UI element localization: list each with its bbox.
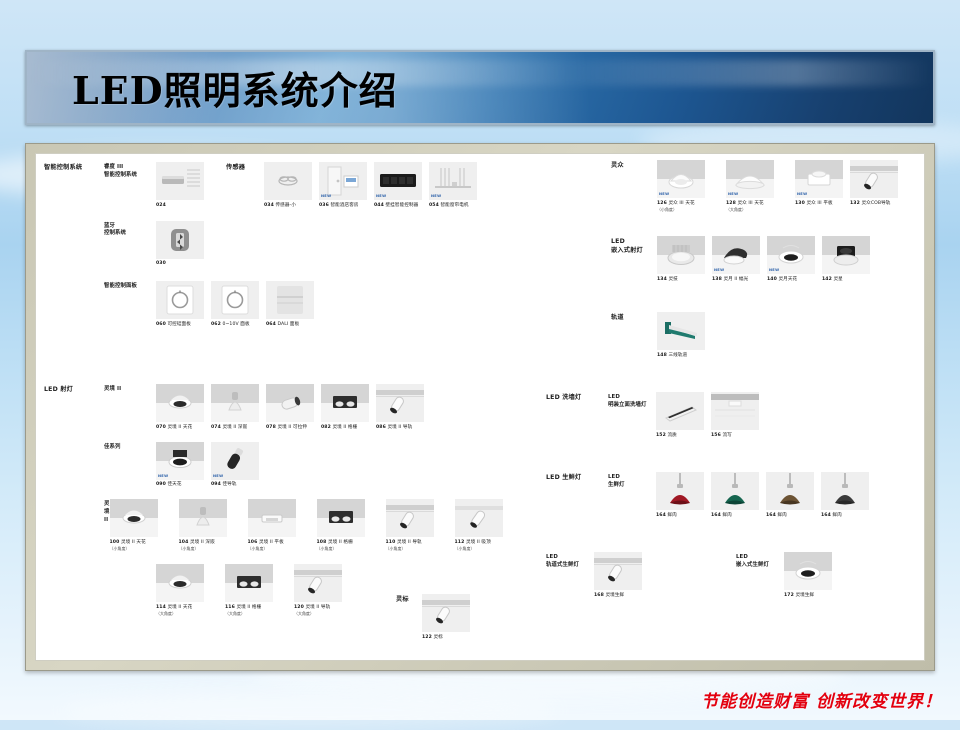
product-caption: 156 流写 xyxy=(711,433,759,439)
product-code: 064 xyxy=(266,322,276,327)
product-caption: 140 灵月天花 xyxy=(767,277,815,283)
product-thumbnail-surface-spot-icon xyxy=(455,499,503,537)
product-thumbnail-track-spot-icon xyxy=(850,160,898,198)
catalog-item[interactable]: 114 灵境 II 天花（大角度） xyxy=(156,564,218,618)
product-thumbnail-linear-washer-icon xyxy=(656,392,704,430)
product-caption: 062 0~10V 面板 xyxy=(211,322,259,328)
product-caption: 078 灵境 II 可拉伸 xyxy=(266,425,314,431)
product-thumbnail-downlight-dark-icon: NEW xyxy=(156,442,204,480)
catalog-item[interactable]: 070 灵境 II 天花 xyxy=(156,384,204,431)
catalog-item-row: 122 灵标 xyxy=(422,594,477,641)
section-led-recessed-spotlight: LED 嵌入式射灯 134 灵技NEW138 灵月 II 幅光NEW140 灵月… xyxy=(611,236,877,283)
catalog-item-row: 100 灵境 II 天花（小角度）104 灵境 II 深嵌（小角度）106 灵境… xyxy=(110,499,524,553)
catalog-section-row: LED 生鲜灯LED 生鲜灯 164 鲜肉 164 鲜肉 164 鲜肉 164 … xyxy=(546,472,876,519)
product-thumbnail-curtain-motor-icon: NEW xyxy=(429,162,477,200)
product-caption: 104 灵境 II 深嵌（小角度） xyxy=(179,540,241,553)
catalog-item[interactable]: 106 灵境 II 平板（小角度） xyxy=(248,499,310,553)
product-name: 灵境 II 深嵌 xyxy=(222,425,247,430)
product-name: 灵境 II 导轨 xyxy=(387,425,412,430)
product-name: 鲜肉 xyxy=(722,513,731,518)
catalog-section-row: LED 轨道式生鲜灯 168 灵境生鲜 xyxy=(546,552,649,599)
catalog-item[interactable]: 164 鲜肉 xyxy=(711,472,759,519)
new-badge: NEW xyxy=(769,268,779,272)
product-code: 024 xyxy=(156,203,166,208)
product-thumbnail-controller-box-icon xyxy=(156,162,204,200)
product-code: 164 xyxy=(766,513,776,518)
product-code: 134 xyxy=(657,277,667,282)
catalog-group: 佳系列NEW090 佳天花NEW094 佳导轨 xyxy=(104,442,508,489)
section-title: 智能控制系统 xyxy=(44,164,82,173)
product-caption: 120 灵境 II 导轨（大角度） xyxy=(294,605,356,618)
product-name: 灵境 II 格栅 xyxy=(332,425,357,430)
product-variant: （小角度） xyxy=(657,207,677,212)
section-led-spotlight: LED 射灯灵境 II070 灵境 II 天花074 灵境 II 深嵌078 灵… xyxy=(38,384,508,629)
section-lingbiao: 灵标 122 灵标 xyxy=(396,594,477,641)
catalog-item[interactable]: NEW140 灵月天花 xyxy=(767,236,815,283)
product-code: 152 xyxy=(656,433,666,438)
catalog-item-row: 168 灵境生鲜 xyxy=(594,552,649,599)
product-caption: 108 灵境 II 格栅（小角度） xyxy=(317,540,379,553)
product-variant: （小角度） xyxy=(317,546,337,551)
product-code: 090 xyxy=(156,482,166,487)
product-name: 传感器-小 xyxy=(275,203,296,208)
group-label: LED 轨道式生鲜灯 xyxy=(546,552,594,569)
product-thumbnail-flat-panel-icon xyxy=(266,281,314,319)
catalog-item[interactable]: NEW126 灵众 III 天花（小角度） xyxy=(657,160,719,214)
product-thumbnail-downlight-icon xyxy=(156,564,204,602)
product-variant: （大角度） xyxy=(294,611,314,616)
product-name: 壁挂智能控制器 xyxy=(385,203,418,208)
catalog-item-row: 134 灵技NEW138 灵月 II 幅光NEW140 灵月天花142 灵星 xyxy=(657,236,877,283)
product-caption: 106 灵境 II 平板（小角度） xyxy=(248,540,310,553)
product-thumbnail-pendant-black-icon xyxy=(821,472,869,510)
new-badge: NEW xyxy=(728,192,738,196)
catalog-group: 灵境 II100 灵境 II 天花（小角度）104 灵境 II 深嵌（小角度）1… xyxy=(104,499,508,553)
catalog-item[interactable]: 060 可控硅面板 xyxy=(156,281,204,328)
product-thumbnail-pendant-brown-icon xyxy=(766,472,814,510)
product-variant: （小角度） xyxy=(179,546,199,551)
product-thumbnail-track-spot-dark-icon: NEW xyxy=(211,442,259,480)
product-code: 094 xyxy=(211,482,221,487)
product-caption: 126 灵众 III 天花（小角度） xyxy=(657,201,719,214)
catalog-item[interactable]: 134 灵技 xyxy=(657,236,705,283)
product-thumbnail-track-spot-icon xyxy=(594,552,642,590)
product-code: 082 xyxy=(321,425,331,430)
catalog-item-row: 152 流质156 流写 xyxy=(656,392,766,439)
catalog-item[interactable]: 064 DALI 面板 xyxy=(266,281,314,328)
product-caption: 034 传感器-小 xyxy=(264,203,312,209)
product-name: 灵境 II 导轨 xyxy=(397,540,422,545)
catalog-group: 灵境 II070 灵境 II 天花074 灵境 II 深嵌078 灵境 II 可… xyxy=(104,384,508,431)
product-caption: 036 智能酒店客房 xyxy=(319,203,367,209)
product-code: 138 xyxy=(712,277,722,282)
product-caption: 060 可控硅面板 xyxy=(156,322,204,328)
product-variant: （小角度） xyxy=(455,546,475,551)
section-title: 灵标 xyxy=(396,596,409,605)
group-label: LED 生鲜灯 xyxy=(608,472,656,489)
new-badge: NEW xyxy=(321,194,331,198)
catalog-item-row: 034 传感器-小NEW036 智能酒店客房NEW044 壁挂智能控制器NEW0… xyxy=(264,162,484,209)
product-code: 126 xyxy=(657,201,667,206)
catalog-item[interactable]: 116 灵境 II 格栅（大角度） xyxy=(225,564,287,618)
catalog-item[interactable]: 034 传感器-小 xyxy=(264,162,312,209)
product-code: 148 xyxy=(657,353,667,358)
product-code: 078 xyxy=(266,425,276,430)
product-caption: 024 xyxy=(156,203,204,209)
product-name: 灵境 II 格栅 xyxy=(328,540,353,545)
catalog-group: 智能控制面板060 可控硅面板062 0~10V 面板064 DALI 面板 xyxy=(104,281,484,328)
product-variant: （小角度） xyxy=(248,546,268,551)
product-code: 086 xyxy=(376,425,386,430)
product-thumbnail-downlight-white-icon: NEW xyxy=(657,160,705,198)
product-code: 156 xyxy=(711,433,721,438)
product-name: 灵技 xyxy=(668,277,677,282)
new-badge: NEW xyxy=(797,192,807,196)
product-code: 054 xyxy=(429,203,439,208)
product-variant: （大角度） xyxy=(156,611,176,616)
product-caption: 152 流质 xyxy=(656,433,704,439)
product-name: 鲜肉 xyxy=(832,513,841,518)
product-code: 070 xyxy=(156,425,166,430)
product-caption: 116 灵境 II 格栅（大角度） xyxy=(225,605,287,618)
catalog-section-row: LED 嵌入式射灯 134 灵技NEW138 灵月 II 幅光NEW140 灵月… xyxy=(611,236,877,283)
catalog-item-row: 060 可控硅面板062 0~10V 面板064 DALI 面板 xyxy=(156,281,321,328)
product-caption: 082 灵境 II 格栅 xyxy=(321,425,369,431)
product-name: 灵境 II 格栅 xyxy=(236,605,261,610)
catalog-item-row: 148 三线轨道 xyxy=(657,312,712,359)
group-label: 灵境 II xyxy=(104,384,156,394)
product-thumbnail-wall-washer-recessed-icon: NEW xyxy=(712,236,760,274)
catalog-group: 蓝牙 控制系统 030 xyxy=(104,221,484,268)
catalog-item[interactable]: 120 灵境 II 导轨（大角度） xyxy=(294,564,356,618)
product-thumbnail-track-spot-icon xyxy=(294,564,342,602)
product-code: 116 xyxy=(225,605,235,610)
product-variant: （小角度） xyxy=(386,546,406,551)
product-name: 灵境 II 天花 xyxy=(167,425,192,430)
product-name: 鲜肉 xyxy=(777,513,786,518)
catalog-item[interactable]: NEW036 智能酒店客房 xyxy=(319,162,367,209)
product-code: 140 xyxy=(767,277,777,282)
catalog-item[interactable]: 152 流质 xyxy=(656,392,704,439)
group-label xyxy=(104,564,156,566)
product-caption: 164 鲜肉 xyxy=(711,513,759,519)
product-thumbnail-track-spot-icon xyxy=(376,384,424,422)
product-caption: 172 灵境生鲜 xyxy=(784,593,832,599)
product-caption: 128 灵众 III 天花（大角度） xyxy=(726,201,788,214)
catalog-section-row: 轨道148 三线轨道 xyxy=(611,312,712,359)
catalog-item[interactable]: 062 0~10V 面板 xyxy=(211,281,259,328)
product-name: 流质 xyxy=(667,433,676,438)
product-thumbnail-recessed-reflector-icon xyxy=(657,236,705,274)
section-title: 灵众 xyxy=(611,160,657,171)
product-thumbnail-adjustable-spot-icon xyxy=(266,384,314,422)
product-name: 灵众COB导轨 xyxy=(861,201,890,206)
product-code: 132 xyxy=(850,201,860,206)
group-label: 睿度 III 智能控制系统 xyxy=(104,162,156,179)
catalog-item[interactable]: 110 灵境 II 导轨（小角度） xyxy=(386,499,448,553)
product-code: 112 xyxy=(455,540,465,545)
catalog-item[interactable]: 122 灵标 xyxy=(422,594,470,641)
product-caption: 122 灵标 xyxy=(422,635,470,641)
product-caption: 074 灵境 II 深嵌 xyxy=(211,425,259,431)
product-thumbnail-grille-double-icon xyxy=(225,564,273,602)
product-name: 灵境 II 深嵌 xyxy=(190,540,215,545)
group-label: 智能控制面板 xyxy=(104,281,156,291)
catalog-item[interactable]: 100 灵境 II 天花（小角度） xyxy=(110,499,172,553)
product-caption: 064 DALI 面板 xyxy=(266,322,314,328)
product-code: 036 xyxy=(319,203,329,208)
catalog-item-row: 114 灵境 II 天花（大角度）116 灵境 II 格栅（大角度） 120 灵… xyxy=(156,564,363,618)
catalog-item[interactable]: 164 鲜肉 xyxy=(821,472,869,519)
product-code: 164 xyxy=(821,513,831,518)
product-caption: 100 灵境 II 天花（小角度） xyxy=(110,540,172,553)
catalog-item[interactable]: 024 xyxy=(156,162,204,209)
product-thumbnail-track-spot-icon xyxy=(422,594,470,632)
product-name: 可控硅面板 xyxy=(167,322,190,327)
product-name: 灵月 II 幅光 xyxy=(723,277,748,282)
product-thumbnail-track-spot-icon xyxy=(386,499,434,537)
page-title: LED照明系统介绍 xyxy=(72,60,398,115)
product-code: 030 xyxy=(156,261,166,266)
product-name: 灵众 III 平板 xyxy=(806,201,832,206)
product-code: 034 xyxy=(264,203,274,208)
product-caption: 030 xyxy=(156,261,204,267)
product-thumbnail-grille-double-icon xyxy=(317,499,365,537)
catalog-item[interactable]: NEW128 灵众 III 天花（大角度） xyxy=(726,160,788,214)
product-thumbnail-sensor-small-icon xyxy=(264,162,312,200)
catalog-item[interactable]: 156 流写 xyxy=(711,392,759,439)
product-code: 060 xyxy=(156,322,166,327)
product-code: 164 xyxy=(711,513,721,518)
product-thumbnail-deep-recessed-icon xyxy=(179,499,227,537)
catalog-section-row: 灵众NEW126 灵众 III 天花（小角度）NEW128 灵众 III 天花（… xyxy=(611,160,905,214)
product-thumbnail-wall-controller-icon: NEW xyxy=(374,162,422,200)
product-caption: 054 智能窗帘电机 xyxy=(429,203,477,209)
product-name: DALI 面板 xyxy=(277,322,299,327)
product-name: 灵境 II 可拉伸 xyxy=(277,425,307,430)
group-stack: 灵境 II070 灵境 II 天花074 灵境 II 深嵌078 灵境 II 可… xyxy=(104,384,508,618)
product-variant: （大角度） xyxy=(225,611,245,616)
new-badge: NEW xyxy=(431,194,441,198)
section-title: LED 生鲜灯 xyxy=(546,472,608,483)
product-thumbnail-grille-double-icon xyxy=(321,384,369,422)
product-thumbnail-cove-washer-icon xyxy=(711,392,759,430)
product-name: 智能窗帘电机 xyxy=(440,203,468,208)
product-caption: 086 灵境 II 导轨 xyxy=(376,425,424,431)
catalog-item[interactable]: 108 灵境 II 格栅（小角度） xyxy=(317,499,379,553)
catalog-item[interactable]: 148 三线轨道 xyxy=(657,312,705,359)
section-led-wall-washer: LED 洗墙灯LED 明装立面洗墙灯152 流质156 流写 xyxy=(546,392,766,439)
product-thumbnail-downlight-icon xyxy=(156,384,204,422)
product-code: 104 xyxy=(179,540,189,545)
product-thumbnail-pendant-red-icon xyxy=(656,472,704,510)
catalog-item-row: 070 灵境 II 天花074 灵境 II 深嵌078 灵境 II 可拉伸082… xyxy=(156,384,431,431)
new-badge: NEW xyxy=(714,268,724,272)
product-thumbnail-downlight-icon xyxy=(110,499,158,537)
group-label: LED 明装立面洗墙灯 xyxy=(608,392,656,409)
product-code: 168 xyxy=(594,593,604,598)
product-name: 0~10V 面板 xyxy=(222,322,249,327)
catalog-image-frame: 智能控制系统睿度 III 智能控制系统 024 蓝牙 控制系统 030 智能控制… xyxy=(25,143,935,671)
product-thumbnail-flat-fixture-white-icon: NEW xyxy=(795,160,843,198)
product-code: 062 xyxy=(211,322,221,327)
product-name: 灵境 II 平板 xyxy=(259,540,284,545)
product-name: 灵众 III 天花 xyxy=(668,201,694,206)
catalog-item[interactable]: NEW130 灵众 III 平板 xyxy=(795,160,843,207)
product-code: 106 xyxy=(248,540,258,545)
product-caption: 070 灵境 II 天花 xyxy=(156,425,204,431)
product-code: 100 xyxy=(110,540,120,545)
product-name: 灵标 xyxy=(433,635,442,640)
catalog-item[interactable]: NEW044 壁挂智能控制器 xyxy=(374,162,422,209)
product-name: 灵境 II 天花 xyxy=(121,540,146,545)
product-code: 108 xyxy=(317,540,327,545)
catalog-item[interactable]: 172 灵境生鲜 xyxy=(784,552,832,599)
catalog-item[interactable]: 104 灵境 II 深嵌（小角度） xyxy=(179,499,241,553)
product-thumbnail-deep-recessed-icon xyxy=(211,384,259,422)
product-caption: 164 鲜肉 xyxy=(656,513,704,519)
product-caption: 132 灵众COB导轨 xyxy=(850,201,898,207)
product-name: 佳导轨 xyxy=(222,482,236,487)
catalog-item[interactable]: 086 灵境 II 导轨 xyxy=(376,384,424,431)
catalog-item-row: 164 鲜肉 164 鲜肉 164 鲜肉 164 鲜肉 xyxy=(656,472,876,519)
product-caption: 168 灵境生鲜 xyxy=(594,593,642,599)
product-thumbnail-flat-fixture-icon xyxy=(248,499,296,537)
product-name: 灵境生鲜 xyxy=(795,593,814,598)
new-badge: NEW xyxy=(659,192,669,196)
product-code: 164 xyxy=(656,513,666,518)
product-name: 灵星 xyxy=(833,277,842,282)
product-code: 114 xyxy=(156,605,166,610)
catalog-item[interactable]: NEW090 佳天花 xyxy=(156,442,204,489)
section-title: LED 嵌入式射灯 xyxy=(611,236,657,256)
catalog-item-row: 030 xyxy=(156,221,211,268)
catalog-item[interactable]: 030 xyxy=(156,221,204,268)
new-badge: NEW xyxy=(376,194,386,198)
product-thumbnail-dark-recessed-icon xyxy=(822,236,870,274)
product-thumbnail-pendant-green-icon xyxy=(711,472,759,510)
product-code: 110 xyxy=(386,540,396,545)
product-caption: 110 灵境 II 导轨（小角度） xyxy=(386,540,448,553)
section-title: LED 射灯 xyxy=(44,386,73,395)
section-title: 轨道 xyxy=(611,312,657,323)
product-code: 074 xyxy=(211,425,221,430)
product-thumbnail-dimmer-knob-icon xyxy=(211,281,259,319)
product-caption: 138 灵月 II 幅光 xyxy=(712,277,760,283)
catalog-item-row: NEW126 灵众 III 天花（小角度）NEW128 灵众 III 天花（大角… xyxy=(657,160,905,214)
catalog-section-row: LED 洗墙灯LED 明装立面洗墙灯152 流质156 流写 xyxy=(546,392,766,439)
product-caption: 134 灵技 xyxy=(657,277,705,283)
section-sensor: 传感器034 传感器-小NEW036 智能酒店客房NEW044 壁挂智能控制器N… xyxy=(226,162,484,209)
product-caption: 090 佳天花 xyxy=(156,482,204,488)
product-caption: 142 灵星 xyxy=(822,277,870,283)
catalog-item[interactable]: NEW054 智能窗帘电机 xyxy=(429,162,477,209)
catalog-item[interactable]: 142 灵星 xyxy=(822,236,870,283)
product-code: 142 xyxy=(822,277,832,282)
product-thumbnail-round-downlight-icon xyxy=(784,552,832,590)
product-thumbnail-bluetooth-module-icon xyxy=(156,221,204,259)
product-caption: 112 灵境 II 吸顶（小角度） xyxy=(455,540,517,553)
catalog-item[interactable]: 082 灵境 II 格栅 xyxy=(321,384,369,431)
product-variant: （大角度） xyxy=(726,207,746,212)
section-led-recessed-fresh-light: LED 嵌入式生鲜灯172 灵境生鲜 xyxy=(736,552,839,599)
catalog-item-row: NEW090 佳天花NEW094 佳导轨 xyxy=(156,442,266,489)
product-variant: （小角度） xyxy=(110,546,130,551)
product-caption: 044 壁挂智能控制器 xyxy=(374,203,422,209)
product-name: 三线轨道 xyxy=(668,353,687,358)
product-caption: 114 灵境 II 天花（大角度） xyxy=(156,605,218,618)
product-thumbnail-hotel-room-panel-icon: NEW xyxy=(319,162,367,200)
product-name: 灵境 II 天花 xyxy=(167,605,192,610)
catalog-item[interactable]: 078 灵境 II 可拉伸 xyxy=(266,384,314,431)
catalog-item[interactable]: 164 鲜肉 xyxy=(766,472,814,519)
group-label: 佳系列 xyxy=(104,442,156,452)
product-caption: 164 鲜肉 xyxy=(766,513,814,519)
catalog-item-row: 024 xyxy=(156,162,211,209)
product-thumbnail-track-rail-icon xyxy=(657,312,705,350)
product-caption: 148 三线轨道 xyxy=(657,353,705,359)
product-thumbnail-dimmer-knob-icon xyxy=(156,281,204,319)
catalog-item[interactable]: 074 灵境 II 深嵌 xyxy=(211,384,259,431)
product-thumbnail-round-downlight-icon: NEW xyxy=(767,236,815,274)
catalog-item[interactable]: NEW094 佳导轨 xyxy=(211,442,259,489)
footer-slogan: 节能创造财富 创新改变世界！ xyxy=(701,687,942,712)
group-label: 蓝牙 控制系统 xyxy=(104,221,156,238)
new-badge: NEW xyxy=(158,474,168,478)
catalog-section-row: LED 嵌入式生鲜灯172 灵境生鲜 xyxy=(736,552,839,599)
new-badge: NEW xyxy=(213,474,223,478)
product-name: 智能酒店客房 xyxy=(330,203,358,208)
product-name: 灵境生鲜 xyxy=(605,593,624,598)
product-name: 灵月天花 xyxy=(778,277,797,282)
catalog-item[interactable]: NEW138 灵月 II 幅光 xyxy=(712,236,760,283)
product-thumbnail-downlight-cone-icon: NEW xyxy=(726,160,774,198)
catalog-item[interactable]: 132 灵众COB导轨 xyxy=(850,160,898,207)
product-code: 044 xyxy=(374,203,384,208)
section-led-fresh-food-light: LED 生鲜灯LED 生鲜灯 164 鲜肉 164 鲜肉 164 鲜肉 164 … xyxy=(546,472,876,519)
section-led-track-fresh-light: LED 轨道式生鲜灯 168 灵境生鲜 xyxy=(546,552,649,599)
product-name: 灵境 II 导轨 xyxy=(305,605,330,610)
section-lingzhong: 灵众NEW126 灵众 III 天花（小角度）NEW128 灵众 III 天花（… xyxy=(611,160,905,214)
cloud-wisp xyxy=(60,690,560,730)
catalog-item[interactable]: 164 鲜肉 xyxy=(656,472,704,519)
product-name: 佳天花 xyxy=(167,482,181,487)
product-code: 122 xyxy=(422,635,432,640)
catalog-item-row: 172 灵境生鲜 xyxy=(784,552,839,599)
catalog-sheet: 智能控制系统睿度 III 智能控制系统 024 蓝牙 控制系统 030 智能控制… xyxy=(35,153,925,661)
product-code: 172 xyxy=(784,593,794,598)
catalog-item[interactable]: 168 灵境生鲜 xyxy=(594,552,642,599)
product-caption: 164 鲜肉 xyxy=(821,513,869,519)
product-name: 灵众 III 天花 xyxy=(737,201,763,206)
product-code: 128 xyxy=(726,201,736,206)
section-title: 传感器 xyxy=(226,164,245,173)
product-caption: 130 灵众 III 平板 xyxy=(795,201,843,207)
group-label: LED 嵌入式生鲜灯 xyxy=(736,552,784,569)
section-track: 轨道148 三线轨道 xyxy=(611,312,712,359)
product-code: 130 xyxy=(795,201,805,206)
catalog-item[interactable]: 112 灵境 II 吸顶（小角度） xyxy=(455,499,517,553)
product-name: 鲜肉 xyxy=(667,513,676,518)
product-name: 灵境 II 吸顶 xyxy=(466,540,491,545)
section-title: LED 洗墙灯 xyxy=(546,392,608,403)
product-name: 流写 xyxy=(722,433,731,438)
slide-title-banner: LED照明系统介绍 xyxy=(25,50,935,125)
product-code: 120 xyxy=(294,605,304,610)
product-caption: 094 佳导轨 xyxy=(211,482,259,488)
